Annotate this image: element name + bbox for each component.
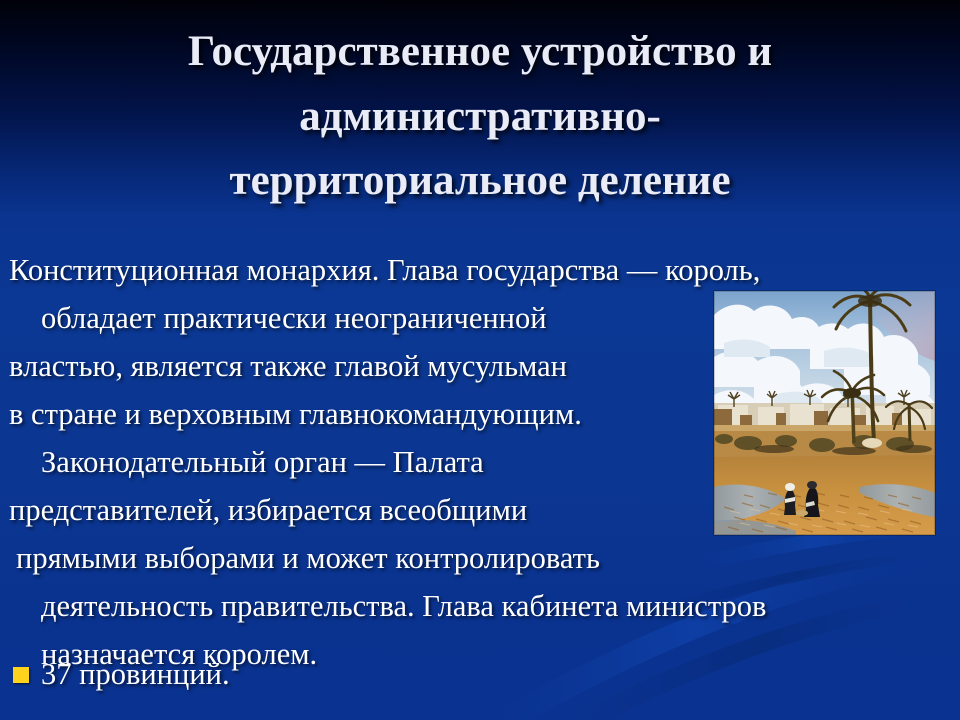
list-item: 37 провинций.	[0, 654, 700, 698]
body-line-1: Конституционная монархия. Глава государс…	[0, 246, 960, 294]
title-line-1: Государственное устройство и	[40, 20, 920, 85]
square-bullet-icon	[13, 667, 29, 683]
title-line-2: административно-	[40, 85, 920, 150]
title-line-3: территориальное деление	[40, 149, 920, 214]
oasis-photo	[714, 291, 935, 535]
body-line-8: деятельность правительства. Глава кабине…	[0, 582, 960, 630]
slide-canvas: Государственное устройство и администрат…	[0, 0, 960, 720]
list-item-label: 37 провинций.	[41, 650, 230, 698]
figure-left	[784, 483, 796, 515]
body-line-7: прямыми выборами и может контролировать	[0, 534, 960, 582]
slide-title: Государственное устройство и администрат…	[40, 20, 920, 214]
